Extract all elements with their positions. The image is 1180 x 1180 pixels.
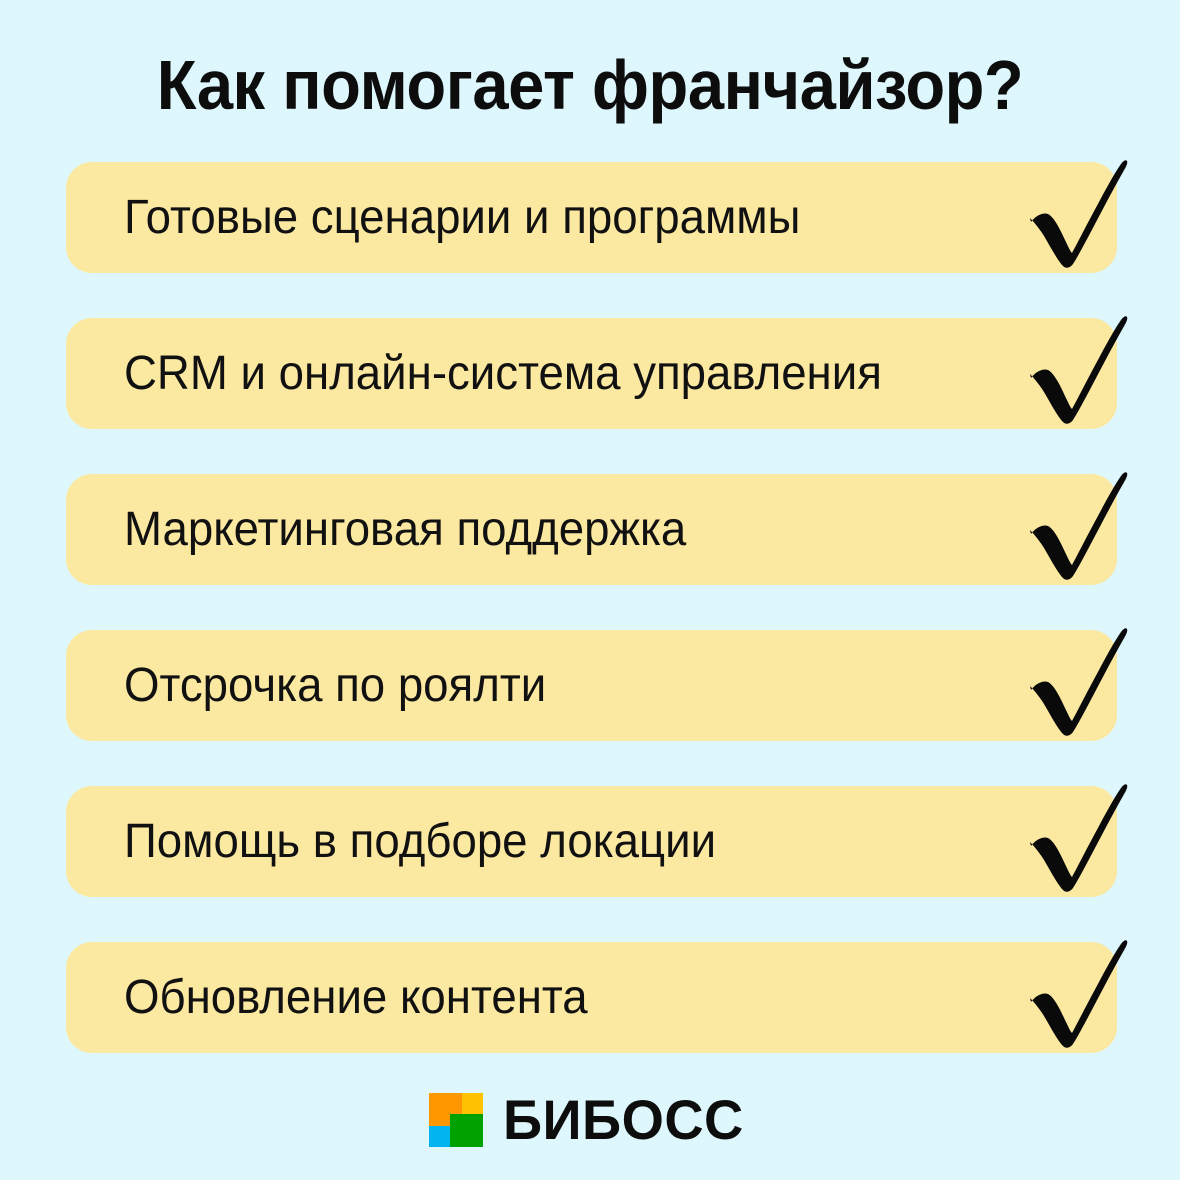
benefit-label: Помощь в подборе локации (124, 786, 716, 897)
benefit-label: Обновление контента (124, 942, 588, 1053)
list-item[interactable]: Маркетинговая поддержка (66, 474, 1117, 585)
benefit-label: Отсрочка по роялти (124, 630, 546, 741)
list-item[interactable]: Готовые сценарии и программы (66, 162, 1117, 273)
poster-canvas: Как помогает франчайзор? Готовые сценари… (0, 0, 1180, 1180)
brand-footer: БИБОСС (0, 1092, 1180, 1148)
logo-square-green (450, 1114, 483, 1147)
list-item[interactable]: CRM и онлайн-система управления (66, 318, 1117, 429)
brand-name: БИБОСС (503, 1092, 744, 1148)
list-item[interactable]: Обновление контента (66, 942, 1117, 1053)
list-item[interactable]: Помощь в подборе локации (66, 786, 1117, 897)
page-title: Как помогает франчайзор? (41, 42, 1138, 128)
list-item[interactable]: Отсрочка по роялти (66, 630, 1117, 741)
benefit-label: Маркетинговая поддержка (124, 474, 686, 585)
logo-square-blue (429, 1126, 450, 1147)
benefits-list: Готовые сценарии и программы CRM и онлай… (66, 162, 1117, 1053)
benefit-label: CRM и онлайн-система управления (124, 318, 882, 429)
benefit-label: Готовые сценарии и программы (124, 162, 800, 273)
biboss-squares-logo-icon (429, 1093, 483, 1147)
